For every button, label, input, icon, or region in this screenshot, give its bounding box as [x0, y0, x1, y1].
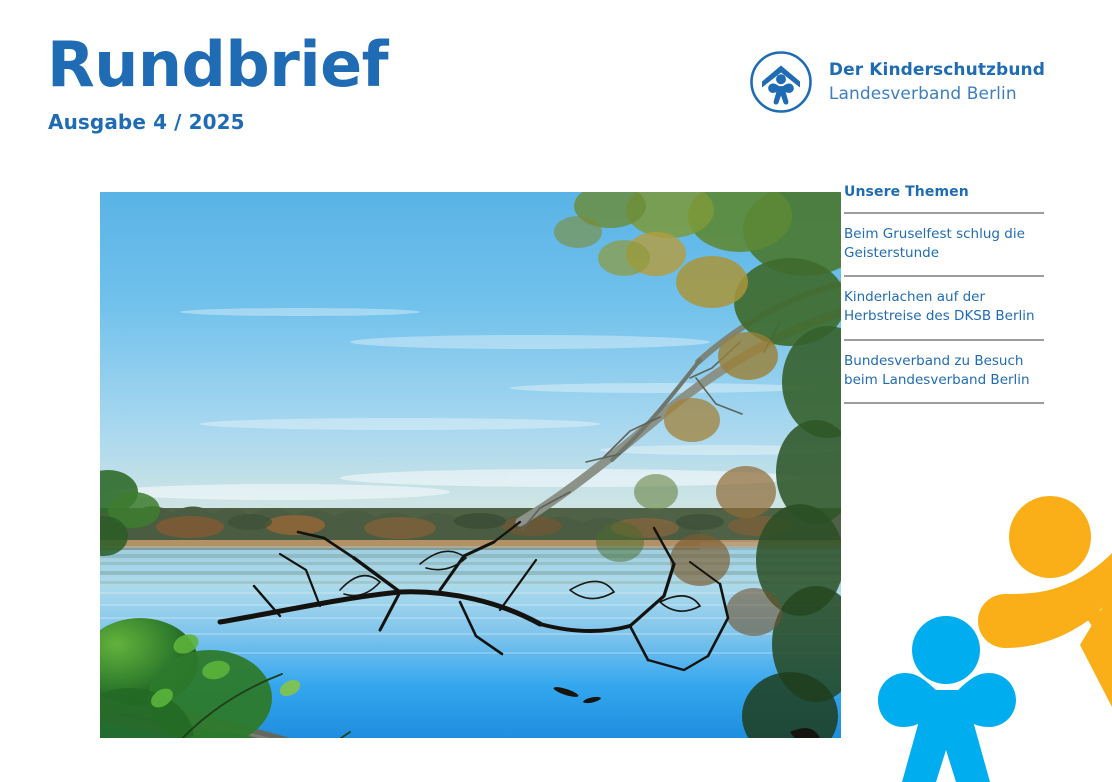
brand-text: Der Kinderschutzbund Landesverband Berli…	[829, 62, 1045, 103]
brand-subtitle: Landesverband Berlin	[829, 86, 1045, 103]
masthead: Rundbrief Ausgabe 4 / 2025	[47, 34, 567, 134]
topic-link-1[interactable]: Beim Gruselfest schlug die Geisterstunde	[844, 212, 1044, 275]
page-title: Rundbrief	[47, 34, 567, 96]
hero-image	[100, 192, 841, 738]
kinderschutzbund-house-child-icon	[749, 50, 813, 114]
decorative-figures	[860, 495, 1112, 782]
topic-link-2[interactable]: Kinderlachen auf der Herbstreise des DKS…	[844, 275, 1044, 338]
issue-label: Ausgabe 4 / 2025	[48, 110, 567, 134]
topics-sidebar: Unsere Themen Beim Gruselfest schlug die…	[844, 184, 1044, 404]
brand-name: Der Kinderschutzbund	[829, 62, 1045, 79]
topics-list: Beim Gruselfest schlug die Geisterstunde…	[844, 212, 1044, 404]
brand-logo: Der Kinderschutzbund Landesverband Berli…	[749, 50, 1045, 114]
newsletter-page: Rundbrief Ausgabe 4 / 2025 Der Kindersch…	[0, 0, 1112, 782]
topic-link-3[interactable]: Bundesverband zu Besuch beim Landesverba…	[844, 339, 1044, 404]
topics-heading: Unsere Themen	[844, 184, 1044, 200]
